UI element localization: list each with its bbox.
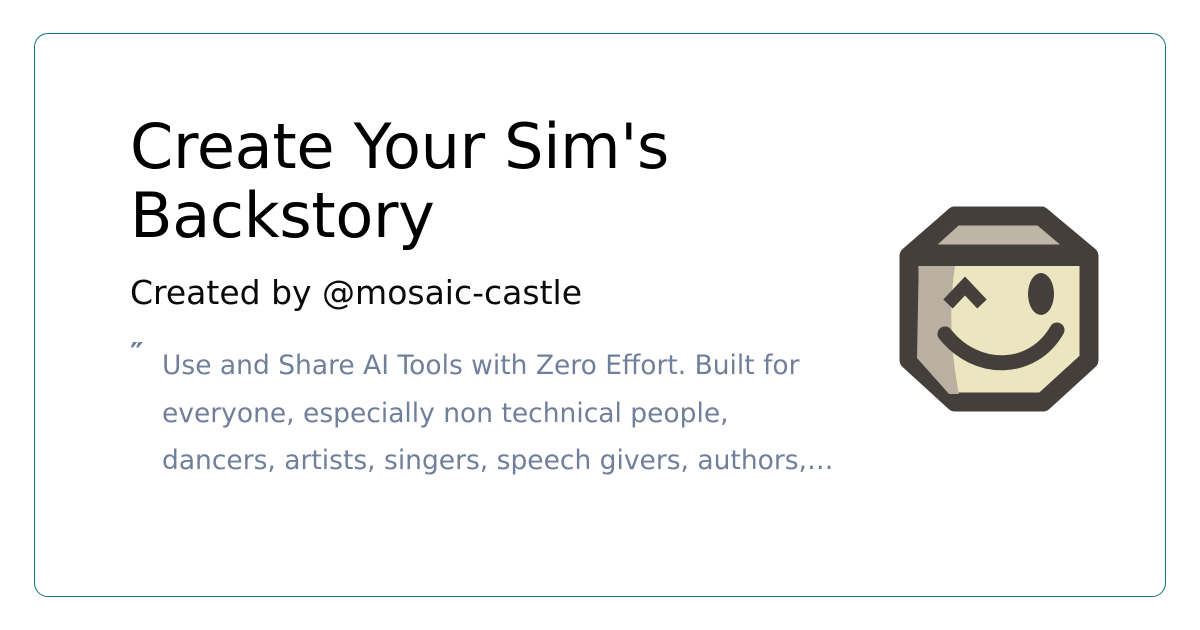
- avatar: [893, 194, 1103, 424]
- avatar-hat-band: [911, 252, 1087, 266]
- social-preview-card-page: Create Your Sim's Backstory Created by @…: [0, 0, 1200, 630]
- description-quote: ″ Use and Share AI Tools with Zero Effor…: [130, 342, 850, 483]
- winking-face-avatar-icon: [893, 194, 1103, 424]
- page-title: Create Your Sim's Backstory: [130, 112, 690, 251]
- quote-mark-icon: ″: [130, 340, 142, 370]
- description-text: Use and Share AI Tools with Zero Effort.…: [162, 342, 850, 483]
- creator-byline: Created by @mosaic-castle: [130, 273, 850, 313]
- preview-card: Create Your Sim's Backstory Created by @…: [34, 33, 1166, 597]
- avatar-hat-shape: [913, 216, 1086, 254]
- avatar-eye-icon: [1028, 273, 1054, 315]
- card-text-column: Create Your Sim's Backstory Created by @…: [130, 112, 850, 484]
- preview-card-inner: Create Your Sim's Backstory Created by @…: [35, 34, 1165, 596]
